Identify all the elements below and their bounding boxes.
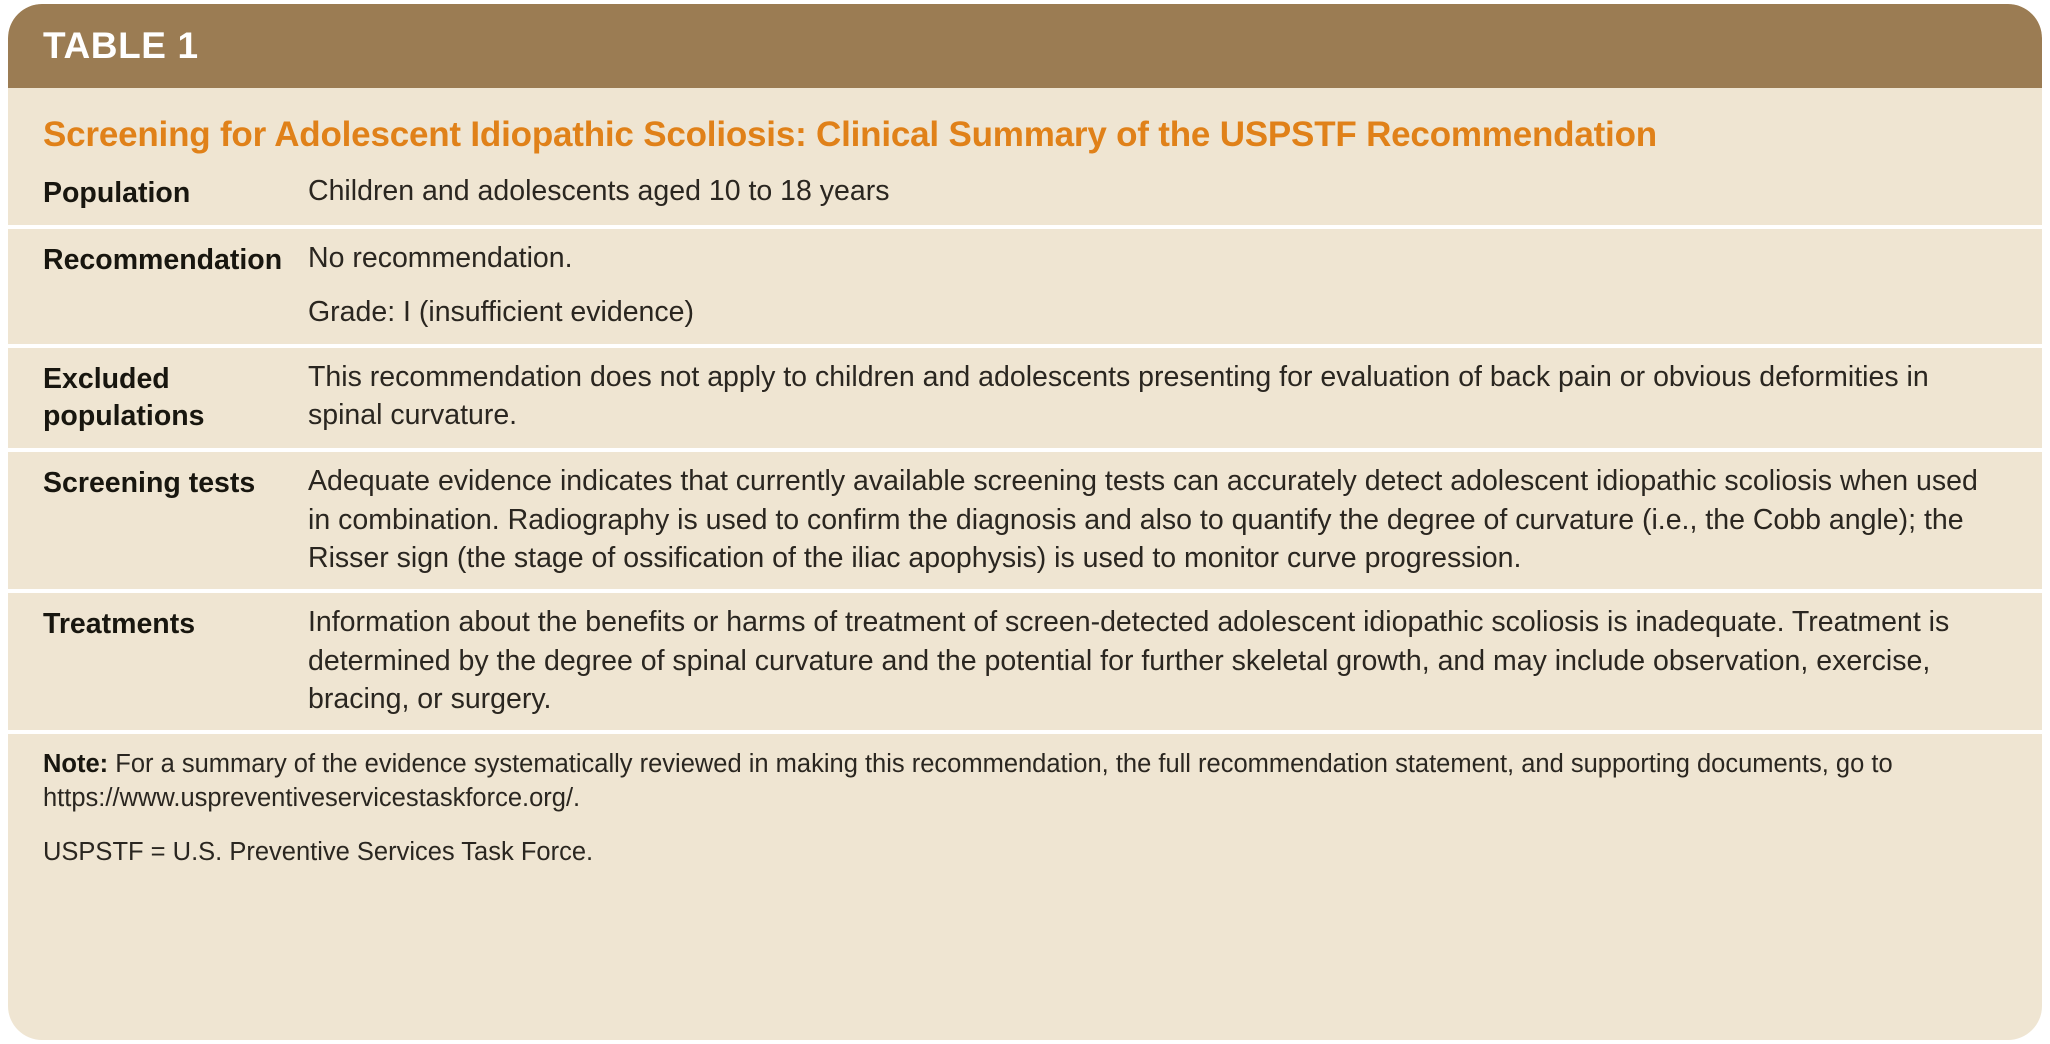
row-label-recommendation: Recommendation bbox=[43, 239, 305, 280]
row-paragraph: Adequate evidence indicates that current… bbox=[308, 462, 1990, 577]
table-footnotes: Note: For a summary of the evidence syst… bbox=[8, 730, 2042, 888]
table-row: Excluded populations This recommendation… bbox=[8, 344, 2042, 449]
row-paragraph: Children and adolescents aged 10 to 18 y… bbox=[308, 172, 1990, 210]
row-label-excluded-populations: Excluded populations bbox=[43, 358, 305, 437]
footnote-abbreviation: USPSTF = U.S. Preventive Services Task F… bbox=[43, 836, 2002, 870]
footnote-note: Note: For a summary of the evidence syst… bbox=[43, 748, 2002, 816]
row-label-population: Population bbox=[43, 172, 305, 213]
table-number-label: TABLE 1 bbox=[8, 25, 199, 67]
row-paragraph: No recommendation. bbox=[308, 239, 1990, 277]
row-label-screening-tests: Screening tests bbox=[43, 462, 305, 503]
row-value-population: Children and adolescents aged 10 to 18 y… bbox=[305, 172, 1990, 210]
table-row: Population Children and adolescents aged… bbox=[8, 162, 2042, 225]
row-label-treatments: Treatments bbox=[43, 603, 305, 644]
table-body: Screening for Adolescent Idiopathic Scol… bbox=[8, 88, 2042, 888]
table-header-bar: TABLE 1 bbox=[8, 4, 2042, 88]
row-paragraph: This recommendation does not apply to ch… bbox=[308, 358, 1990, 435]
table-rows: Population Children and adolescents aged… bbox=[8, 162, 2042, 730]
row-paragraph: Grade: I (insufficient evidence) bbox=[308, 293, 1990, 331]
table-row: Recommendation No recommendation. Grade:… bbox=[8, 225, 2042, 344]
row-value-treatments: Information about the benefits or harms … bbox=[305, 603, 1990, 718]
table-row: Screening tests Adequate evidence indica… bbox=[8, 448, 2042, 589]
row-value-recommendation: No recommendation. Grade: I (insufficien… bbox=[305, 239, 1990, 332]
row-value-excluded-populations: This recommendation does not apply to ch… bbox=[305, 358, 1990, 435]
table-title: Screening for Adolescent Idiopathic Scol… bbox=[8, 88, 2042, 162]
row-paragraph: Information about the benefits or harms … bbox=[308, 603, 1990, 718]
footnote-note-label: Note: bbox=[43, 750, 108, 778]
table-row: Treatments Information about the benefit… bbox=[8, 589, 2042, 730]
table-card: TABLE 1 Screening for Adolescent Idiopat… bbox=[8, 4, 2042, 1040]
row-value-screening-tests: Adequate evidence indicates that current… bbox=[305, 462, 1990, 577]
footnote-note-text: For a summary of the evidence systematic… bbox=[43, 750, 1893, 812]
